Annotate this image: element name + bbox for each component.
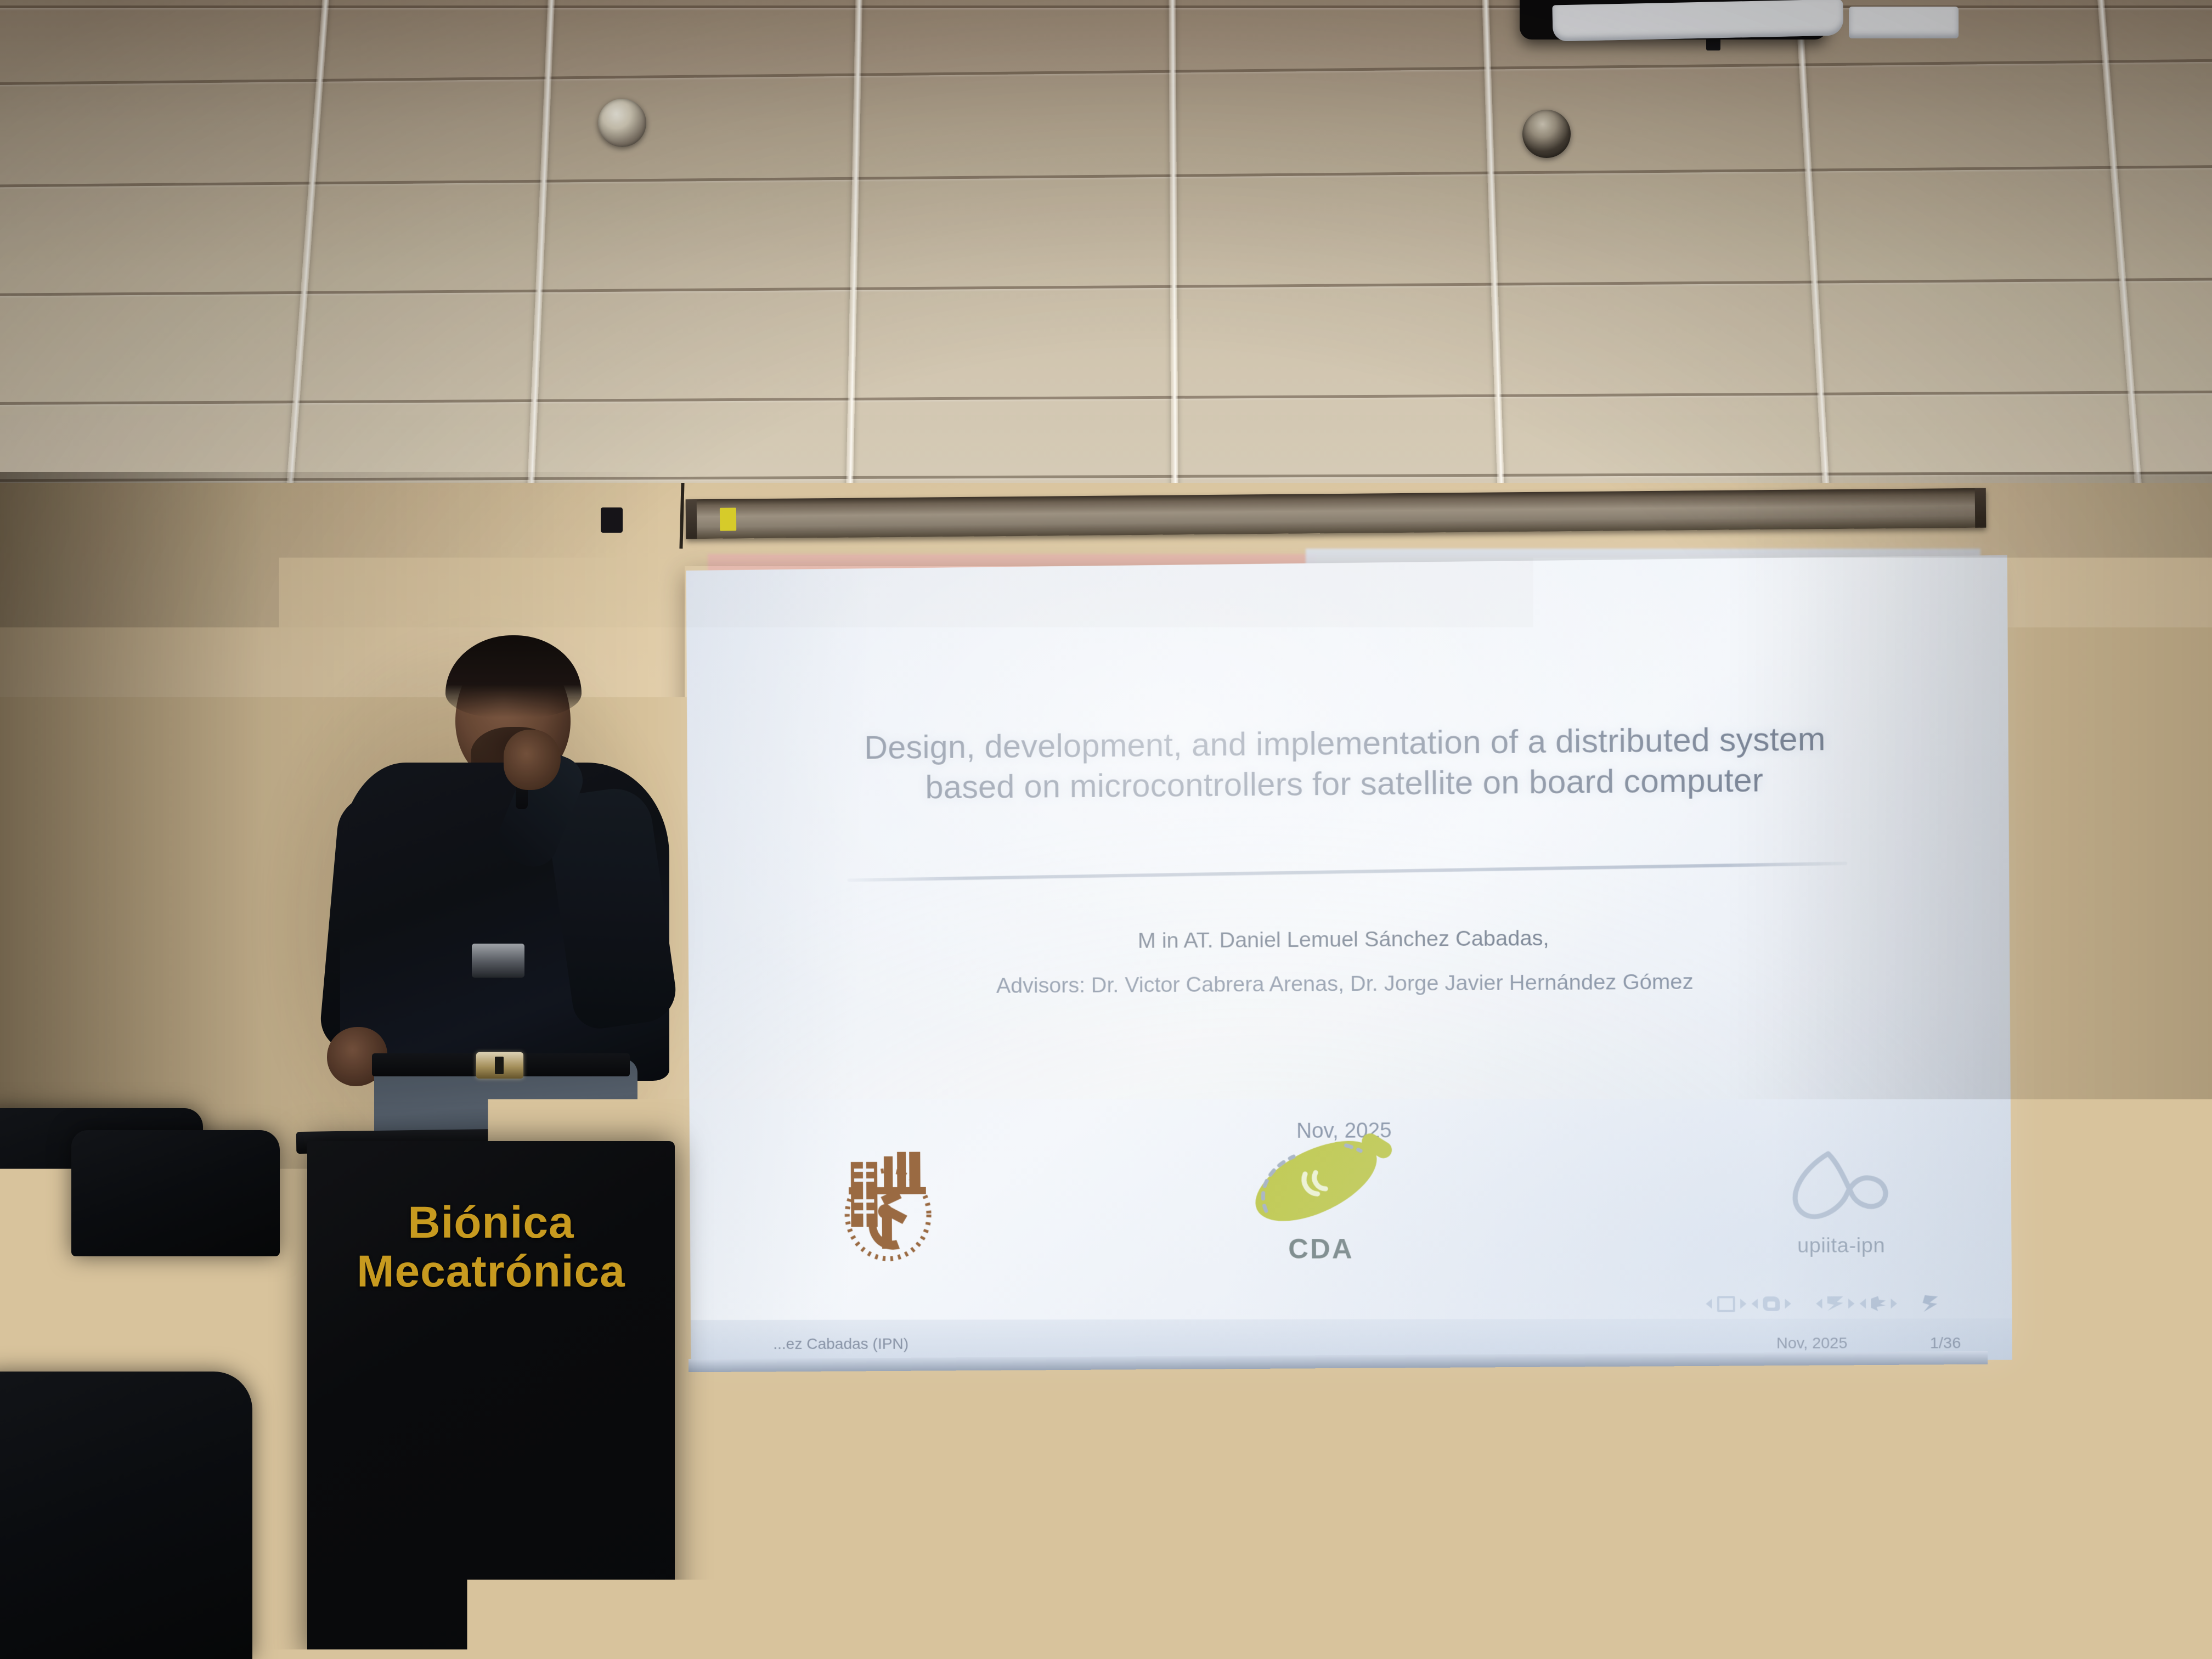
upiita-loop-icon xyxy=(1767,1145,1915,1224)
wall-wainscot xyxy=(878,1443,2212,1517)
conference-room-photo: Design, development, and implementation … xyxy=(0,0,2212,1659)
cda-logo: CDA xyxy=(1237,1127,1405,1266)
podium-label-line-1: Biónica xyxy=(307,1200,675,1245)
cda-label: CDA xyxy=(1237,1233,1405,1265)
wall-sensor-box xyxy=(601,507,623,533)
next-frame-icon[interactable] xyxy=(1785,1299,1791,1308)
red-wall-marker xyxy=(1640,1410,1655,1465)
presenter xyxy=(274,614,669,1163)
back-icon[interactable] xyxy=(1922,1295,1938,1312)
suspended-ceiling xyxy=(0,0,2212,494)
prev-section-icon[interactable] xyxy=(1860,1299,1866,1308)
upiita-label: upiita-ipn xyxy=(1768,1234,1915,1257)
next-subsection-icon[interactable] xyxy=(1848,1299,1854,1308)
chair-back-row-2 xyxy=(71,1130,280,1256)
roller-sticker-icon xyxy=(720,508,736,531)
belt-buckle-icon xyxy=(476,1052,523,1079)
presenter-badge xyxy=(472,944,524,978)
footer-author: ...ez Cabadas (IPN) xyxy=(773,1335,909,1353)
upiita-logo: upiita-ipn xyxy=(1767,1145,1915,1257)
subsection-icon[interactable] xyxy=(1827,1296,1843,1311)
next-section-icon[interactable] xyxy=(1891,1299,1897,1308)
author-name: M in AT. Daniel Lemuel Sánchez Cabadas, xyxy=(689,924,2010,956)
slide-square-icon[interactable] xyxy=(1717,1296,1735,1312)
slide-author-block: M in AT. Daniel Lemuel Sánchez Cabadas, … xyxy=(689,924,2010,1000)
slide-logo-row: CDA upiita-ipn xyxy=(690,1120,2012,1267)
advisor-names: Advisors: Dr. Victor Cabrera Arenas, Dr.… xyxy=(689,968,2010,1000)
ceiling-projector xyxy=(1520,0,1827,39)
presenter-hair xyxy=(445,635,582,718)
next-slide-icon[interactable] xyxy=(1740,1299,1746,1308)
projected-slide: Design, development, and implementation … xyxy=(686,555,2012,1361)
beamer-navigation-bar[interactable] xyxy=(1706,1295,1938,1312)
satellite-dish-icon xyxy=(1237,1127,1404,1233)
podium-label-line-2: Mecatrónica xyxy=(307,1245,675,1299)
recessed-spotlight-1 xyxy=(598,99,646,147)
prev-subsection-icon[interactable] xyxy=(1816,1299,1822,1308)
section-icon[interactable] xyxy=(1871,1296,1886,1311)
frame-icon[interactable] xyxy=(1763,1296,1780,1311)
chair-right-foreground xyxy=(1180,1553,1531,1659)
chair-left-foreground xyxy=(0,1372,252,1659)
slide-title-block: Design, development, and implementation … xyxy=(687,717,2008,810)
ipn-logo-icon xyxy=(835,1144,940,1262)
chair-center-foreground xyxy=(351,1525,900,1659)
podium-label: Biónica Mecatrónica xyxy=(307,1200,675,1299)
recessed-spotlight-2 xyxy=(1522,110,1571,158)
footer-date: Nov, 2025 xyxy=(1776,1334,1848,1352)
prev-frame-icon[interactable] xyxy=(1752,1299,1758,1308)
prev-slide-icon[interactable] xyxy=(1706,1299,1712,1308)
title-divider xyxy=(848,862,1848,882)
footer-page-number: 1/36 xyxy=(1930,1334,1961,1352)
